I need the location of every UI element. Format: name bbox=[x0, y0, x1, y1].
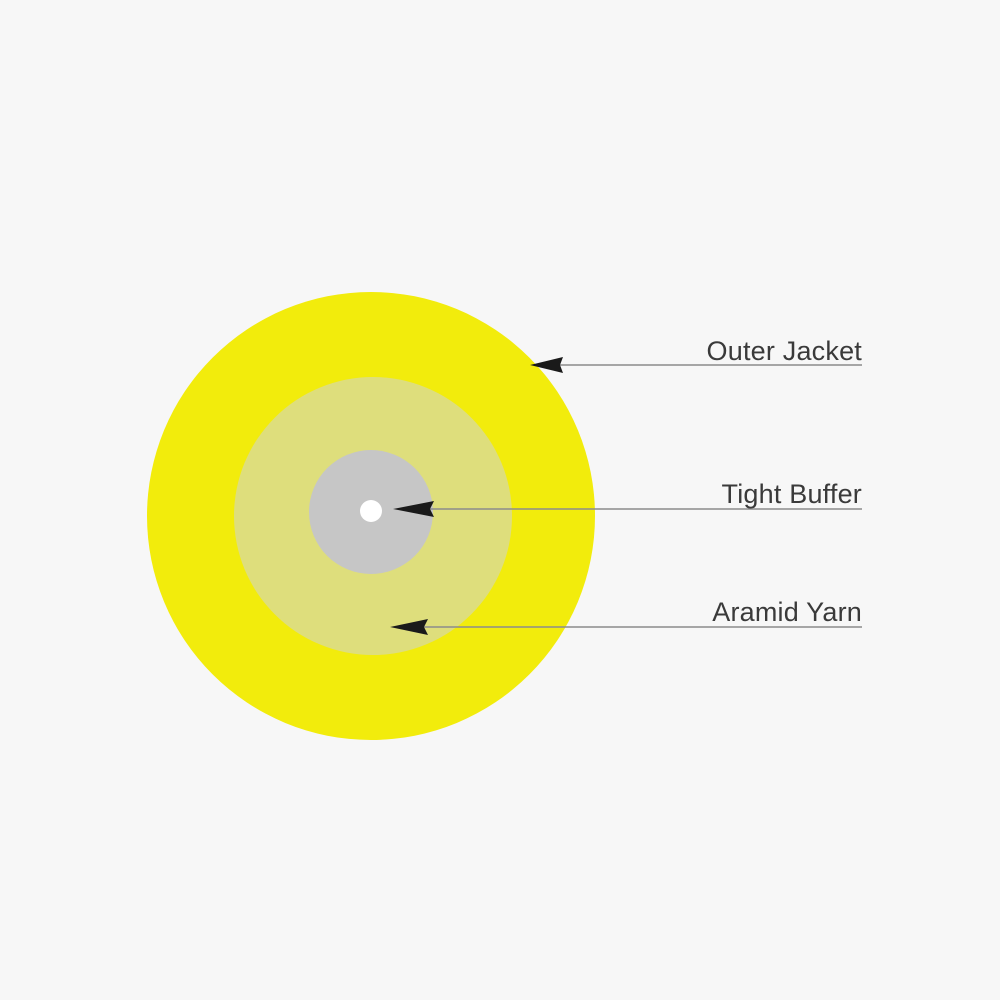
callout-label-aramid-yarn: Aramid Yarn bbox=[712, 597, 862, 627]
callout-label-outer-jacket: Outer Jacket bbox=[707, 336, 863, 366]
fiber-core bbox=[360, 500, 382, 522]
callout-label-tight-buffer: Tight Buffer bbox=[722, 479, 862, 509]
fiber-cable-diagram: Outer Jacket Tight Buffer Aramid Yarn bbox=[0, 0, 1000, 1000]
cable-cross-section-svg: Outer Jacket Tight Buffer Aramid Yarn bbox=[0, 0, 1000, 1000]
